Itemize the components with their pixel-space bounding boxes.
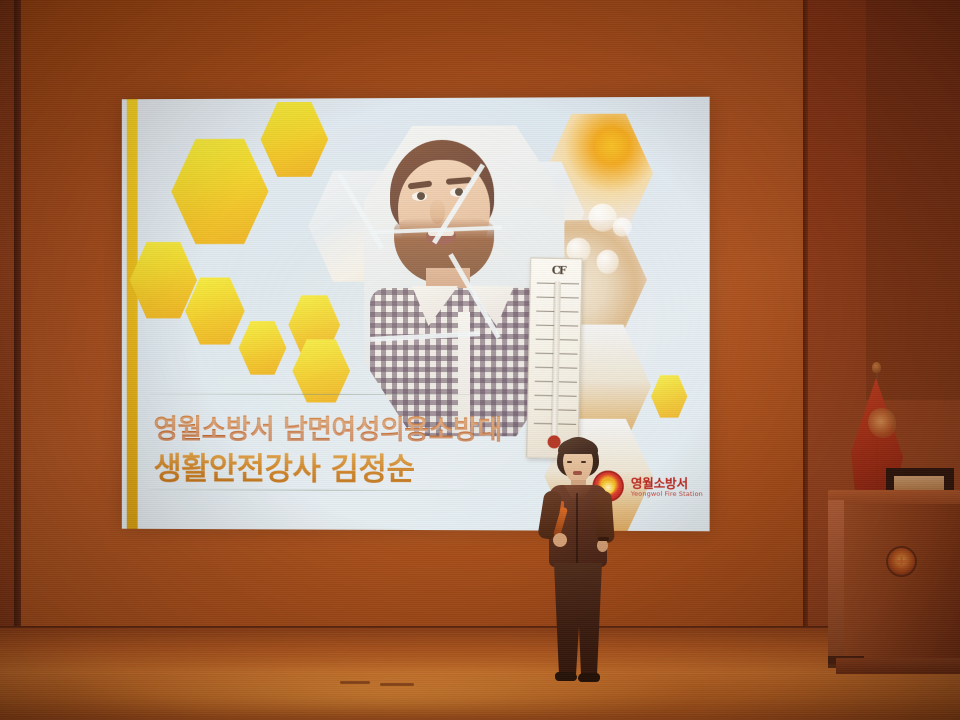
flag-emblem <box>868 408 896 438</box>
bokeh-circle <box>597 250 619 274</box>
right-wall-panel <box>866 0 960 400</box>
presenter-fringe <box>558 438 598 454</box>
presenter-trousers <box>553 563 603 675</box>
wall-seam-left <box>14 0 21 660</box>
hex-solid-8 <box>651 374 687 418</box>
slide-title-line-1: 영월소방서 남면여성의용소방대 <box>153 408 501 448</box>
presenter-shoe-left <box>555 672 577 681</box>
floor-mark <box>340 681 370 684</box>
slide-accent-bar <box>127 99 138 529</box>
thermometer-scale-label-f: F <box>531 263 582 277</box>
floor-mark <box>380 683 414 686</box>
thermometer-fahrenheit-scale <box>558 283 579 436</box>
presenter-eye-right <box>581 461 586 463</box>
slide-title-line-2: 생활안전강사 김정순 <box>153 443 414 489</box>
lectern <box>828 490 960 680</box>
lectern-body <box>842 504 960 662</box>
presenter-wristwatch <box>598 537 609 541</box>
hex-solid-2 <box>261 100 329 178</box>
auditorium-scene: C F 영월소방서 남면여성의용소방대 <box>0 0 960 720</box>
presenter-arm-right <box>593 490 615 543</box>
presenter-eye-left <box>567 461 572 463</box>
lectern-side-panel <box>828 500 844 664</box>
bokeh-circle <box>613 218 632 237</box>
thermometer: C F <box>526 257 582 459</box>
thermometer-celsius-scale <box>534 283 555 436</box>
title-rule-bottom <box>150 489 479 491</box>
wall-seam-right <box>803 0 808 660</box>
presenter-shoe-right <box>578 673 600 682</box>
hex-solid-1 <box>171 137 268 247</box>
presenter-figure <box>531 437 623 689</box>
presenter-mouth <box>573 471 582 475</box>
logo-english-name: Yeongwol Fire Station <box>631 490 703 498</box>
presenter-shirt-placket <box>576 493 578 567</box>
lectern-emblem-icon <box>888 548 915 575</box>
flag-finial <box>872 362 881 373</box>
hex-solid-5 <box>239 320 287 376</box>
lectern-base <box>836 658 960 674</box>
